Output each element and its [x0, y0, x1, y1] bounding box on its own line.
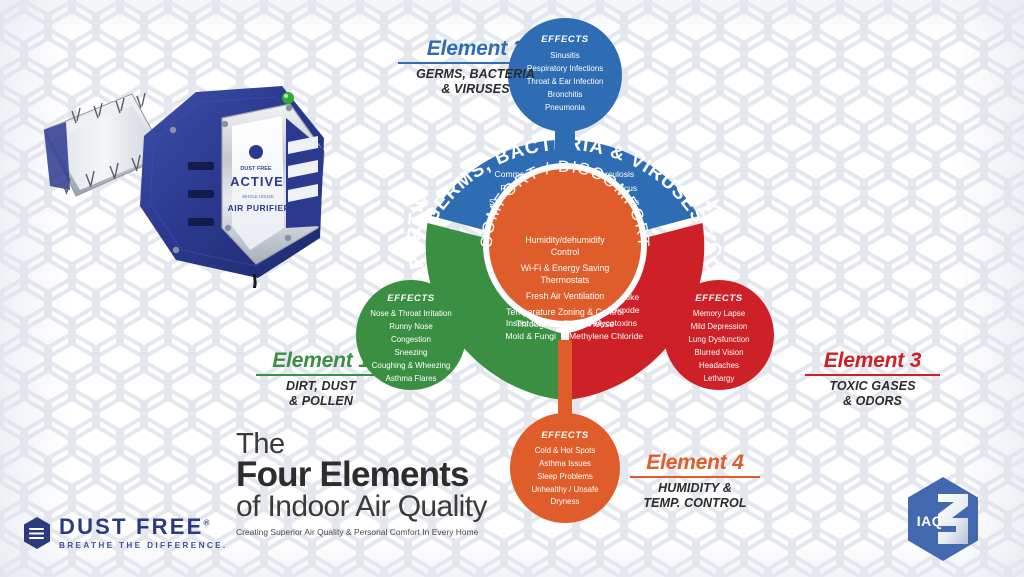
svg-text:Humidity/dehumidify: Humidity/dehumidify — [525, 235, 605, 245]
element4-subtitle: HUMIDITY & TEMP. CONTROL — [630, 481, 760, 510]
element1-title: Element 1 — [272, 350, 369, 373]
element4-title: Element 4 — [646, 452, 743, 475]
svg-text:Control: Control — [551, 247, 579, 257]
logo-wordmark: DUST FREE® — [59, 516, 228, 538]
svg-text:Wi-Fi & Energy Saving: Wi-Fi & Energy Saving — [521, 263, 610, 273]
svg-text:Sinusitis: Sinusitis — [550, 51, 579, 60]
svg-text:Cold & Hot Spots: Cold & Hot Spots — [535, 446, 596, 455]
svg-text:EFFECTS: EFFECTS — [387, 293, 435, 304]
hexagon-logo-icon — [22, 516, 52, 550]
logo-tagline: BREATHE THE DIFFERENCE. — [59, 541, 228, 550]
svg-text:Asthma Issues: Asthma Issues — [539, 459, 591, 468]
svg-text:Unhealthy / Unsafe: Unhealthy / Unsafe — [531, 485, 599, 494]
wheel-stem-comfort — [558, 340, 572, 418]
element1-subtitle: DIRT, DUST & POLLEN — [256, 379, 386, 408]
element2-title: Element 2 — [427, 38, 524, 61]
svg-text:Dryness: Dryness — [551, 497, 580, 506]
title-block: The Four Elements of Indoor Air Quality … — [236, 430, 487, 537]
svg-text:Fresh Air Ventilation: Fresh Air Ventilation — [526, 291, 604, 301]
svg-text:EFFECTS: EFFECTS — [695, 293, 743, 304]
element1-rule — [256, 374, 386, 376]
title-line-2: Four Elements — [236, 458, 487, 492]
svg-text:Thermostats: Thermostats — [541, 275, 590, 285]
purifier-body: DUST FREE ACTIVE WHOLE HOUSE AIR PURIFIE… — [140, 86, 324, 278]
element3-rule — [805, 374, 940, 376]
effects-bubble-comfort: EFFECTS Cold & Hot Spots Asthma Issues S… — [510, 413, 620, 523]
svg-text:Mild Depression: Mild Depression — [691, 322, 748, 331]
element3-subtitle: TOXIC GASES & ODORS — [805, 379, 940, 408]
svg-text:Mold & Fungi: Mold & Fungi — [505, 331, 556, 341]
svg-text:Temperature Zoning & Control: Temperature Zoning & Control — [506, 307, 624, 317]
svg-text:Asthma Flares: Asthma Flares — [386, 374, 437, 383]
svg-text:DUST FREE: DUST FREE — [240, 166, 272, 172]
iaq3-badge[interactable]: IAQ — [898, 474, 988, 570]
svg-text:Congestion: Congestion — [391, 335, 431, 344]
svg-text:Pneumonia: Pneumonia — [545, 103, 586, 112]
svg-text:ACTIVE: ACTIVE — [230, 174, 284, 189]
title-tagline: Creating Superior Air Quality & Personal… — [236, 527, 487, 537]
element2-rule — [398, 62, 553, 64]
svg-text:Throughout Entire House: Throughout Entire House — [516, 319, 614, 329]
element2-subtitle: GERMS, BACTERIA & VIRUSES — [398, 67, 553, 96]
svg-text:AIR PURIFIER: AIR PURIFIER — [228, 203, 291, 213]
callout-element1: Element 1 DIRT, DUST & POLLEN — [256, 350, 386, 408]
svg-text:Lethargy: Lethargy — [704, 374, 735, 383]
svg-text:Sneezing: Sneezing — [395, 348, 428, 357]
svg-text:Runny Nose: Runny Nose — [389, 322, 433, 331]
badge-text: IAQ — [917, 513, 943, 529]
callout-element4: Element 4 HUMIDITY & TEMP. CONTROL — [630, 452, 760, 510]
svg-text:Methylene Chloride: Methylene Chloride — [569, 331, 643, 341]
element3-title: Element 3 — [824, 350, 921, 373]
product-image-air-purifier: DUST FREE ACTIVE WHOLE HOUSE AIR PURIFIE… — [36, 78, 326, 288]
callout-element2: Element 2 GERMS, BACTERIA & VIRUSES — [398, 38, 553, 96]
svg-text:EFFECTS: EFFECTS — [541, 430, 589, 441]
svg-text:Lung Dysfunction: Lung Dysfunction — [689, 335, 750, 344]
svg-text:Sleep Problems: Sleep Problems — [537, 472, 593, 481]
svg-text:Memory Lapse: Memory Lapse — [693, 309, 746, 318]
power-led-icon — [282, 92, 294, 104]
infographic-canvas: DUST FREE ACTIVE WHOLE HOUSE AIR PURIFIE… — [0, 0, 1024, 577]
callout-element3: Element 3 TOXIC GASES & ODORS — [805, 350, 940, 408]
svg-text:Headaches: Headaches — [699, 361, 739, 370]
title-line-3: of Indoor Air Quality — [236, 492, 487, 522]
title-line-1: The — [236, 430, 487, 458]
svg-text:Nose & Throat Irritation: Nose & Throat Irritation — [370, 309, 451, 318]
dust-free-logo[interactable]: DUST FREE® BREATHE THE DIFFERENCE. — [22, 516, 228, 550]
element4-rule — [630, 476, 760, 478]
svg-text:Blurred Vision: Blurred Vision — [695, 348, 744, 357]
logo-registered-mark: ® — [203, 519, 211, 528]
svg-text:WHOLE HOUSE: WHOLE HOUSE — [242, 194, 274, 199]
